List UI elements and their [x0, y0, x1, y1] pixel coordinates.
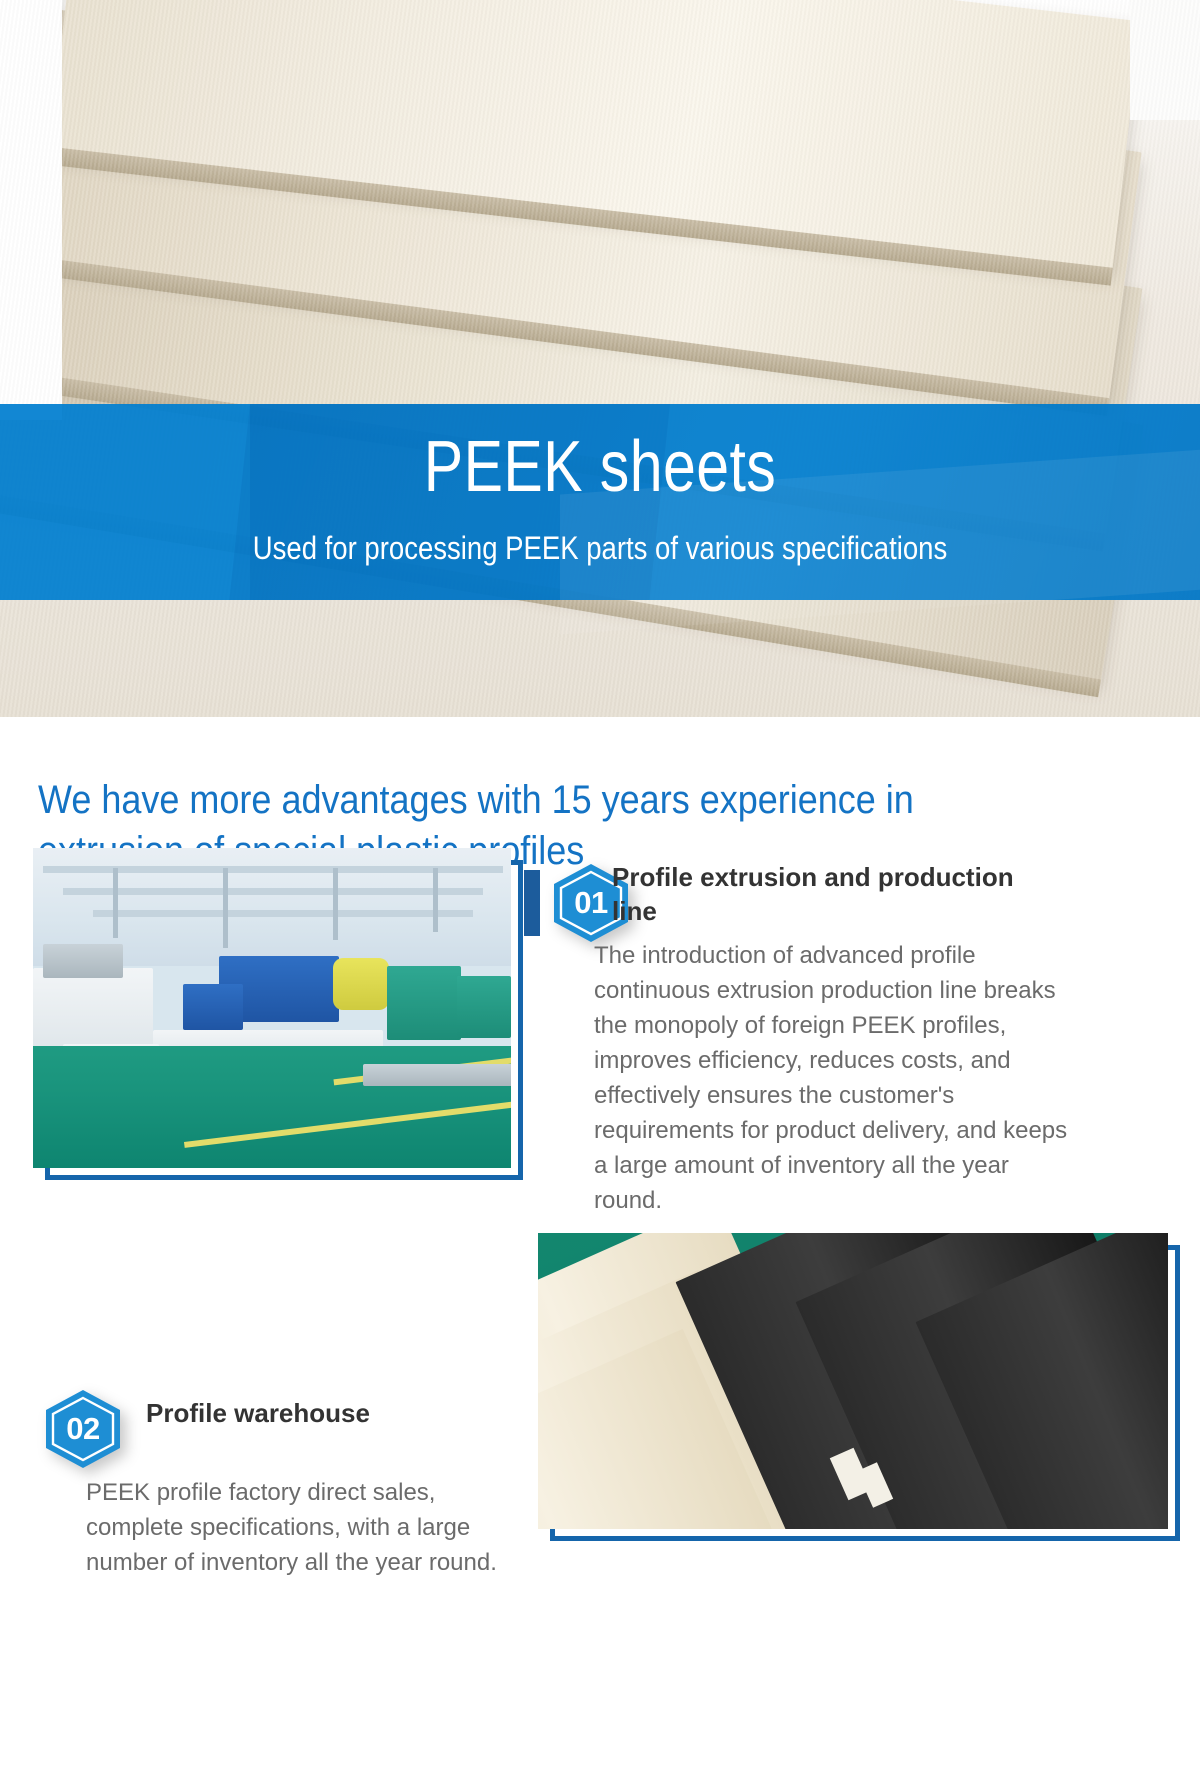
hero-banner: PEEK sheets Used for processing PEEK par…	[0, 0, 1200, 717]
section-02-body: PEEK profile factory direct sales, compl…	[86, 1475, 526, 1580]
warehouse-plates-photo	[538, 1233, 1168, 1529]
section-02-title: Profile warehouse	[146, 1396, 526, 1430]
section-01-title: Profile extrusion and production line	[612, 860, 1060, 928]
section-02-badge: 02	[42, 1388, 124, 1470]
hexagon-badge-icon: 02	[42, 1388, 124, 1470]
production-line-photo	[33, 848, 511, 1168]
hero-subtitle: Used for processing PEEK parts of variou…	[84, 526, 1116, 570]
badge-number: 02	[42, 1388, 124, 1470]
section-01-body: The introduction of advanced profile con…	[594, 938, 1068, 1218]
photo-image	[33, 848, 511, 1168]
badge-tab	[524, 870, 540, 936]
photo-image	[538, 1233, 1168, 1529]
hero-title: PEEK sheets	[108, 424, 1092, 510]
